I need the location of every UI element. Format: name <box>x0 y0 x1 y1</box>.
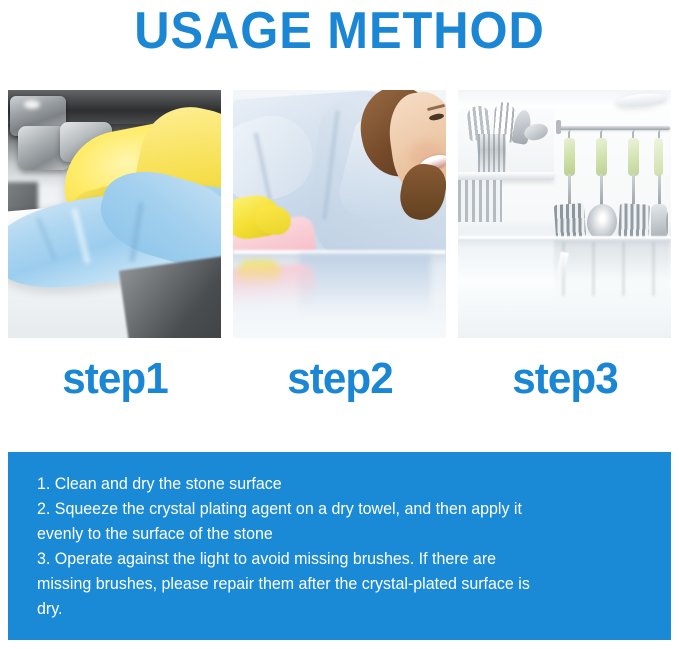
step-image-3 <box>458 90 671 338</box>
step-image-1 <box>8 90 221 338</box>
page-title: USAGE METHOD <box>20 0 658 62</box>
instruction-line-6: dry. <box>37 597 627 622</box>
utensil-handle <box>654 138 663 176</box>
instruction-line-1: 1. Clean and dry the stone surface <box>37 472 627 497</box>
utensil-rail <box>558 126 670 130</box>
instruction-line-5: missing brushes, please repair them afte… <box>37 572 627 597</box>
instructions-panel: 1. Clean and dry the stone surface 2. Sq… <box>8 452 671 640</box>
step-label-cell-3: step3 <box>458 352 671 406</box>
countertop-edge <box>458 236 671 239</box>
reflection-streaks <box>562 242 666 296</box>
glove-reflection <box>237 260 281 286</box>
step-label-cell-2: step2 <box>233 352 446 406</box>
step-label-3: step3 <box>512 354 618 404</box>
utensil-handle <box>628 138 639 176</box>
instruction-line-2: 2. Squeeze the crystal plating agent on … <box>37 497 627 522</box>
instruction-line-4: 3. Operate against the light to avoid mi… <box>37 547 627 572</box>
rail-bracket <box>556 120 561 134</box>
instruction-line-3: evenly to the surface of the stone <box>37 522 627 547</box>
utensil-neck <box>600 174 603 208</box>
utensil-head <box>651 204 667 240</box>
utensil-handle <box>596 138 607 176</box>
step-label-cell-1: step1 <box>8 352 221 406</box>
utensil-neck <box>632 174 635 208</box>
step-images-row <box>8 90 671 338</box>
step-labels-row: step1 step2 step3 <box>8 352 671 406</box>
utensil-holder-icon <box>478 134 506 174</box>
wall-shelf <box>458 172 554 180</box>
step-label-1: step1 <box>62 354 168 404</box>
step-image-2 <box>233 90 446 338</box>
utensil-neck <box>658 174 661 208</box>
step-label-2: step2 <box>287 354 393 404</box>
utensil-rack <box>458 180 502 222</box>
utensil-handle <box>564 138 575 176</box>
surface-reflection <box>299 254 431 314</box>
usage-method-infographic: USAGE METHOD <box>0 0 679 649</box>
